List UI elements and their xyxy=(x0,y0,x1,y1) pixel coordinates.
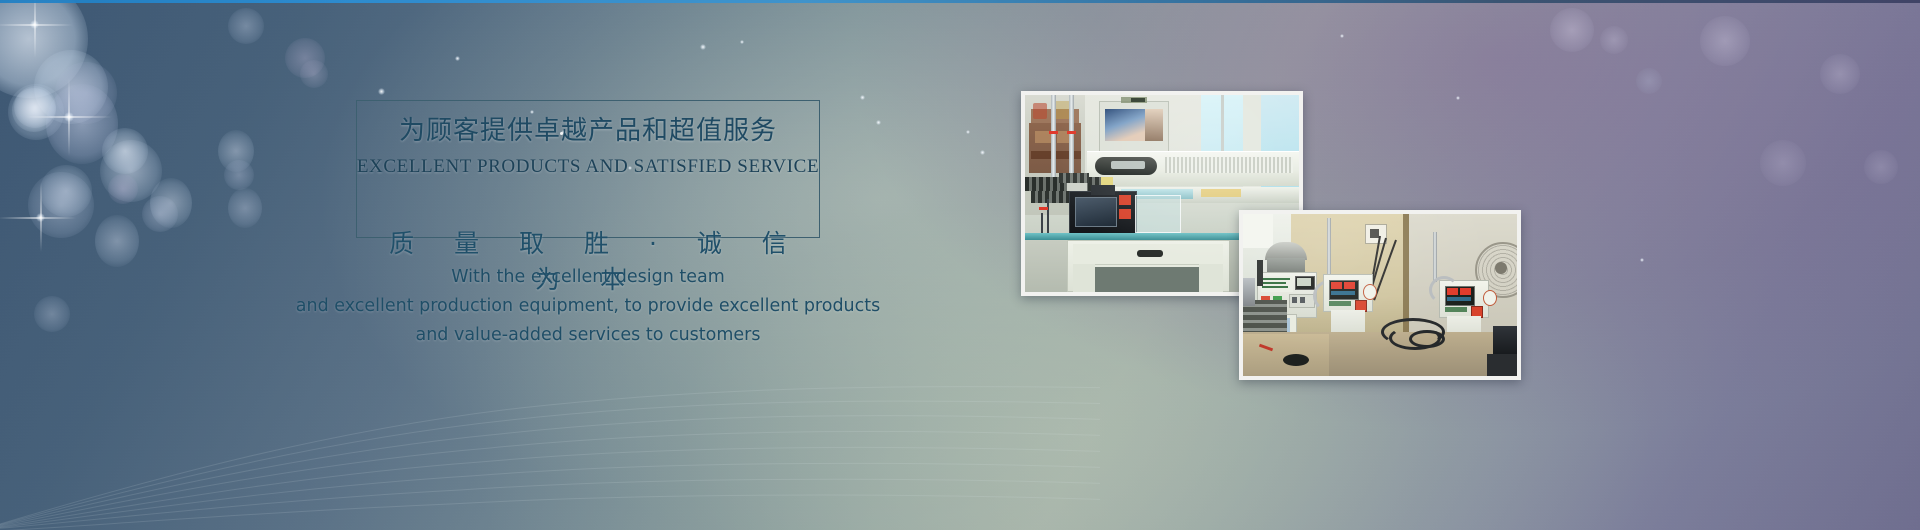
description-line-2: and excellent production equipment, to p… xyxy=(286,292,890,321)
description-line-1: With the excellent design team xyxy=(286,263,890,292)
description-paragraph: With the excellent design team and excel… xyxy=(286,263,890,350)
banner-text-block: 为顾客提供卓越产品和超值服务 EXCELLENT PRODUCTS AND SA… xyxy=(0,0,1100,530)
press-machines-photo xyxy=(1239,210,1521,380)
hero-banner: 为顾客提供卓越产品和超值服务 EXCELLENT PRODUCTS AND SA… xyxy=(0,0,1920,530)
headline-english: EXCELLENT PRODUCTS AND SATISFIED SERVICE xyxy=(356,156,820,178)
description-line-3: and value-added services to customers xyxy=(286,321,890,350)
headline-chinese: 为顾客提供卓越产品和超值服务 xyxy=(356,110,820,147)
